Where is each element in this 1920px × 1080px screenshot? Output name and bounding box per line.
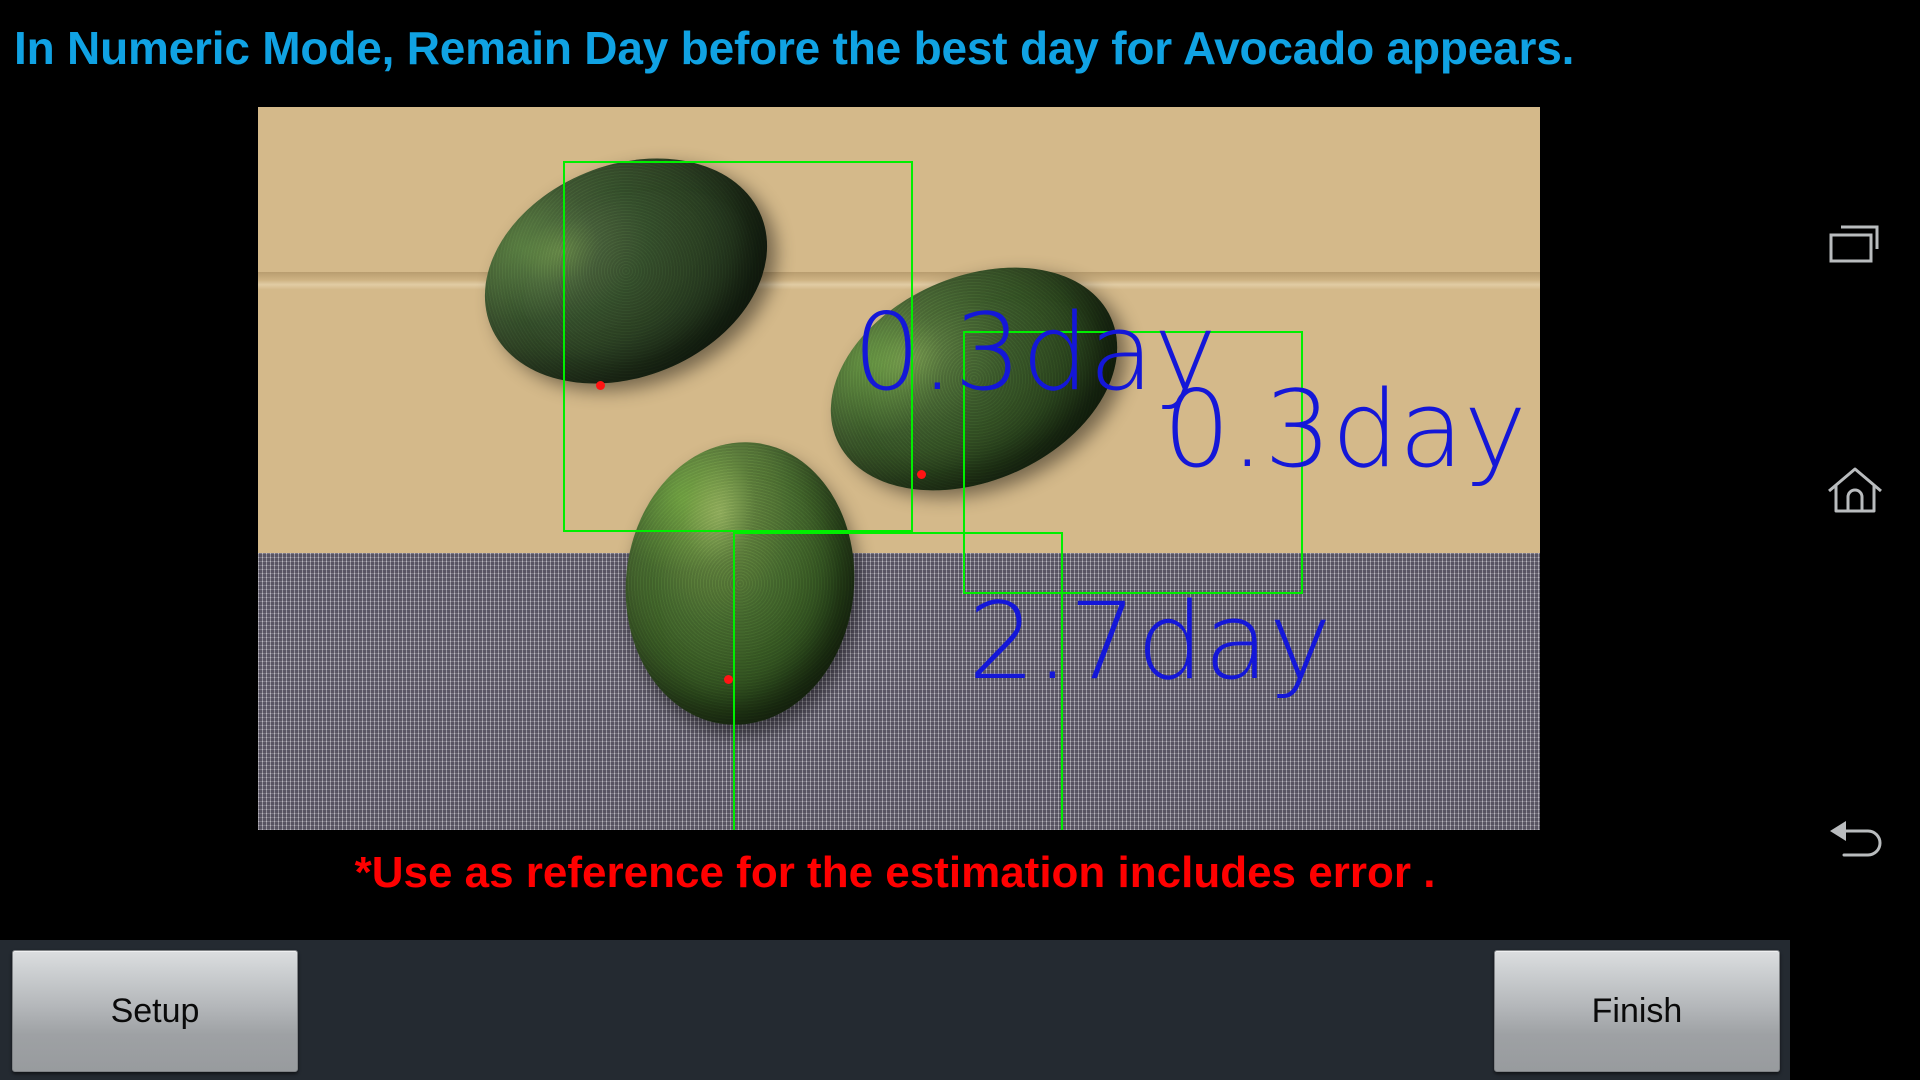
bottom-action-bar: Setup Finish: [0, 940, 1790, 1080]
back-icon: [1824, 817, 1886, 863]
detection-photo: 0.3day 0.3day 2.7day: [258, 107, 1540, 830]
estimation-warning: *Use as reference for the estimation inc…: [0, 848, 1790, 898]
page-title: In Numeric Mode, Remain Day before the b…: [14, 14, 1844, 84]
recent-apps-icon: [1827, 223, 1883, 267]
finish-button[interactable]: Finish: [1494, 950, 1780, 1072]
setup-button[interactable]: Setup: [12, 950, 298, 1072]
system-navigation-bar: [1790, 0, 1920, 1080]
home-icon: [1826, 465, 1884, 515]
center-dot-2: [917, 470, 926, 479]
center-dot-1: [596, 381, 605, 390]
app-root: In Numeric Mode, Remain Day before the b…: [0, 0, 1920, 1080]
back-button[interactable]: [1790, 785, 1920, 895]
center-dot-3: [724, 675, 733, 684]
detection-box-3: [733, 532, 1063, 830]
home-button[interactable]: [1790, 435, 1920, 545]
recent-apps-button[interactable]: [1790, 190, 1920, 300]
detection-box-1: [563, 161, 913, 532]
